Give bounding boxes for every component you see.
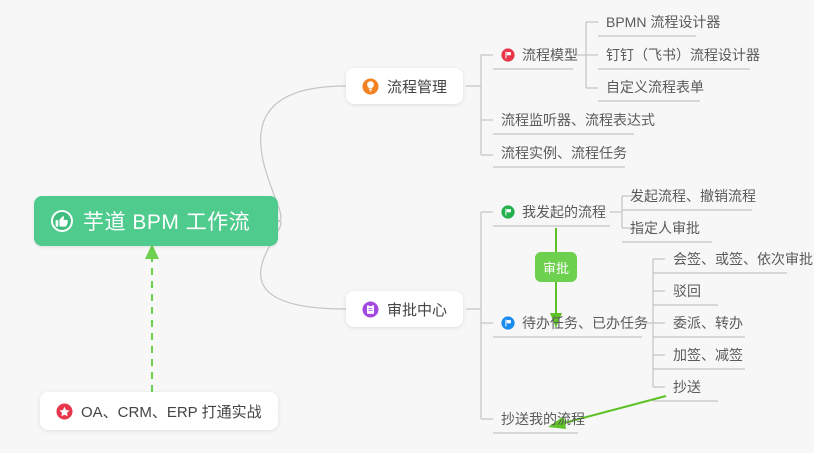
node-label: 流程实例、流程任务 xyxy=(501,143,627,163)
node-process-model[interactable]: 流程模型 xyxy=(493,40,586,70)
node-add-remove-sign[interactable]: 加签、减签 xyxy=(665,340,751,370)
node-delegate-transfer[interactable]: 委派、转办 xyxy=(665,308,751,338)
branch-label: 审批中心 xyxy=(387,299,447,320)
node-dingtalk-feishu-designer[interactable]: 钉钉（飞书）流程设计器 xyxy=(598,40,768,70)
node-label: BPMN 流程设计器 xyxy=(606,12,720,32)
lightbulb-icon xyxy=(362,78,379,95)
node-custom-process-form[interactable]: 自定义流程表单 xyxy=(598,72,712,102)
node-label: 我发起的流程 xyxy=(522,202,606,222)
flag-blue-icon xyxy=(501,316,515,330)
node-assignee-approval[interactable]: 指定人审批 xyxy=(622,213,708,243)
branch-process-management[interactable]: 流程管理 xyxy=(346,68,463,104)
node-reject[interactable]: 驳回 xyxy=(665,276,709,306)
node-bpmn-designer[interactable]: BPMN 流程设计器 xyxy=(598,7,728,37)
node-countersign[interactable]: 会签、或签、依次审批 xyxy=(665,244,814,274)
node-label: 驳回 xyxy=(673,281,701,301)
node-label: 抄送 xyxy=(673,377,701,397)
node-label: 指定人审批 xyxy=(630,218,700,238)
branch-label: 流程管理 xyxy=(387,76,447,97)
annotation-label: 审批 xyxy=(543,258,569,277)
node-start-cancel[interactable]: 发起流程、撤销流程 xyxy=(622,181,764,211)
flag-green-icon xyxy=(501,205,515,219)
node-cc[interactable]: 抄送 xyxy=(665,372,709,402)
footnote-node[interactable]: OA、CRM、ERP 打通实战 xyxy=(40,392,278,430)
node-label: 发起流程、撤销流程 xyxy=(630,186,756,206)
node-label: 委派、转办 xyxy=(673,313,743,333)
node-label: 加签、减签 xyxy=(673,345,743,365)
node-cc-to-me[interactable]: 抄送我的流程 xyxy=(493,404,593,434)
node-label: 抄送我的流程 xyxy=(501,409,585,429)
branch-approval-center[interactable]: 审批中心 xyxy=(346,291,463,327)
footnote-label: OA、CRM、ERP 打通实战 xyxy=(81,401,262,422)
annotation-approval-chip: 审批 xyxy=(535,252,577,282)
node-label: 待办任务、已办任务 xyxy=(522,313,648,333)
flag-red-icon xyxy=(501,48,515,62)
thumbs-up-icon xyxy=(50,209,74,233)
mindmap-canvas: 芋道 BPM 工作流 流程管理 流程模型 BPMN 流程设计器 钉钉（飞书）流程… xyxy=(0,0,814,453)
star-red-icon xyxy=(56,403,73,420)
node-my-initiated[interactable]: 我发起的流程 xyxy=(493,197,614,227)
root-node[interactable]: 芋道 BPM 工作流 xyxy=(34,196,278,246)
document-purple-icon xyxy=(362,301,379,318)
root-label: 芋道 BPM 工作流 xyxy=(83,206,250,236)
node-listener-expression[interactable]: 流程监听器、流程表达式 xyxy=(493,105,663,135)
node-instance-task[interactable]: 流程实例、流程任务 xyxy=(493,138,635,168)
node-label: 钉钉（飞书）流程设计器 xyxy=(606,45,760,65)
node-label: 会签、或签、依次审批 xyxy=(673,249,813,269)
node-todo-done-tasks[interactable]: 待办任务、已办任务 xyxy=(493,308,656,338)
arrowhead-footnote-to-root xyxy=(145,244,159,259)
node-label: 自定义流程表单 xyxy=(606,77,704,97)
node-label: 流程模型 xyxy=(522,45,578,65)
node-label: 流程监听器、流程表达式 xyxy=(501,110,655,130)
